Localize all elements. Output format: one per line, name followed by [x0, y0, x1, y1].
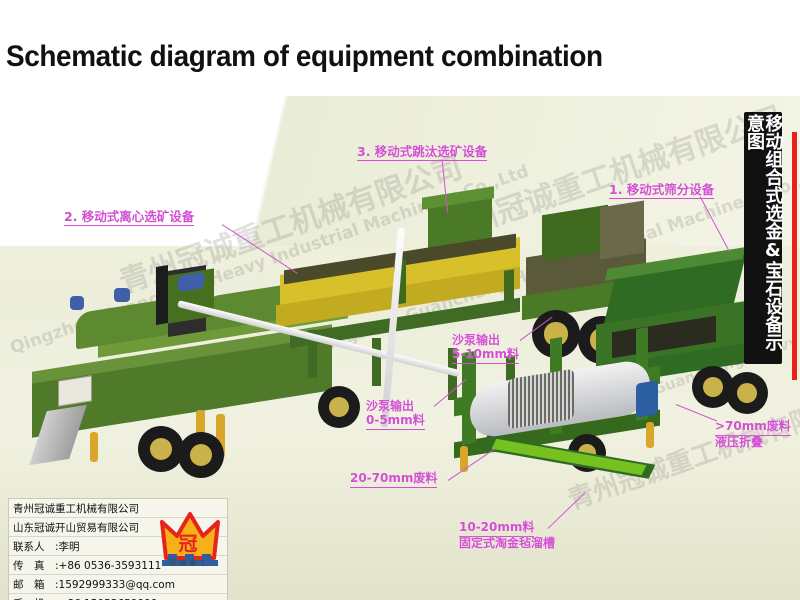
page-title: Schematic diagram of equipment combinati…	[6, 40, 603, 74]
vertical-title-text: 移动组合式选金&宝石设备示意图	[745, 114, 782, 362]
email-value: 1592999333@qq.com	[59, 579, 175, 591]
red-accent-bar	[792, 132, 797, 380]
label-centrifugal-plant: 2. 移动式离心选矿设备	[64, 210, 194, 226]
label-jig-plant: 3. 移动式跳汰选矿设备	[357, 145, 487, 161]
email-row: 邮 箱:1592999333@qq.com	[9, 575, 227, 594]
fax-key: 传 真	[13, 558, 55, 573]
label-pump-out-0-5mm: 沙泵输出 0-5mm料	[366, 400, 425, 430]
contact-person-key: 联系人	[13, 539, 55, 554]
label-sluice-10-20mm: 10-20mm料 固定式淘金毡溜槽	[459, 521, 555, 551]
email-key: 邮 箱	[13, 577, 55, 592]
mobile-key: 手 机	[13, 596, 55, 600]
diagram-canvas: Qingzhou Guancheng Heavy Industrial Mach…	[0, 0, 800, 600]
mobile-row: 手 机:+86 15053659999	[9, 594, 227, 600]
contact-person-value: 李明	[59, 541, 80, 553]
label-waste-over-70mm: >70mm废料 液压折叠	[715, 420, 791, 450]
label-pump-out-5-10mm: 沙泵输出 5-10mm料	[452, 334, 519, 364]
fax-value: +86 0536-3593111	[59, 560, 162, 572]
company-logo: 冠 冠诚重工	[160, 512, 234, 570]
vertical-title-banner: 移动组合式选金&宝石设备示意图	[744, 112, 782, 364]
logo-text: 冠诚重工	[160, 558, 218, 568]
svg-text:冠: 冠	[178, 533, 197, 555]
label-waste-20-70mm: 20-70mm废料	[350, 472, 437, 488]
